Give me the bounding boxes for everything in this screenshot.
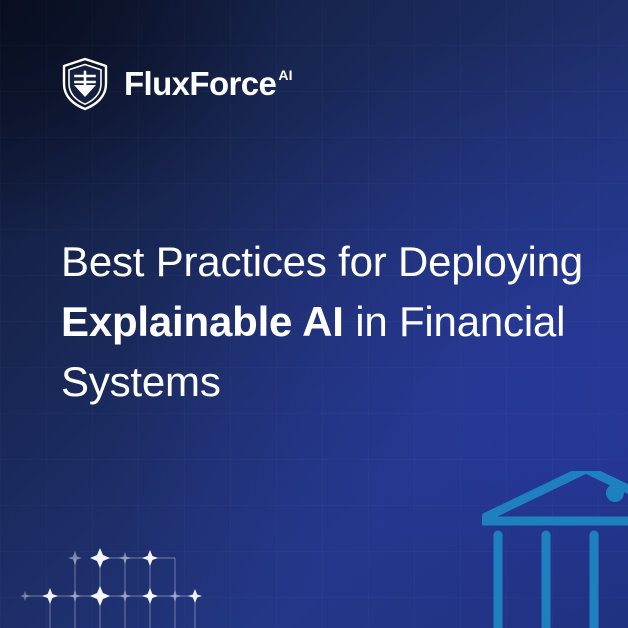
- title-line-1: Best Practices for Deploying: [61, 238, 583, 285]
- brand-logo[interactable]: FluxForce AI: [60, 56, 293, 112]
- brand-wordmark: FluxForce AI: [124, 66, 293, 102]
- title-emphasis-explainable-ai: Explainable AI: [61, 298, 344, 345]
- node-network-grid: [20, 524, 220, 628]
- shield-crest-icon: [60, 57, 110, 111]
- brand-name: FluxForce: [124, 66, 276, 102]
- title-line-2-rest: in Financial: [344, 298, 566, 345]
- title-line-3: Systems: [61, 358, 221, 405]
- title-slide: FluxForce AI Best Practices for Deployin…: [0, 0, 628, 628]
- brand-suffix-ai: AI: [278, 68, 292, 82]
- bank-building-icon: [482, 471, 628, 628]
- slide-title: Best Practices for Deploying Explainable…: [61, 232, 617, 412]
